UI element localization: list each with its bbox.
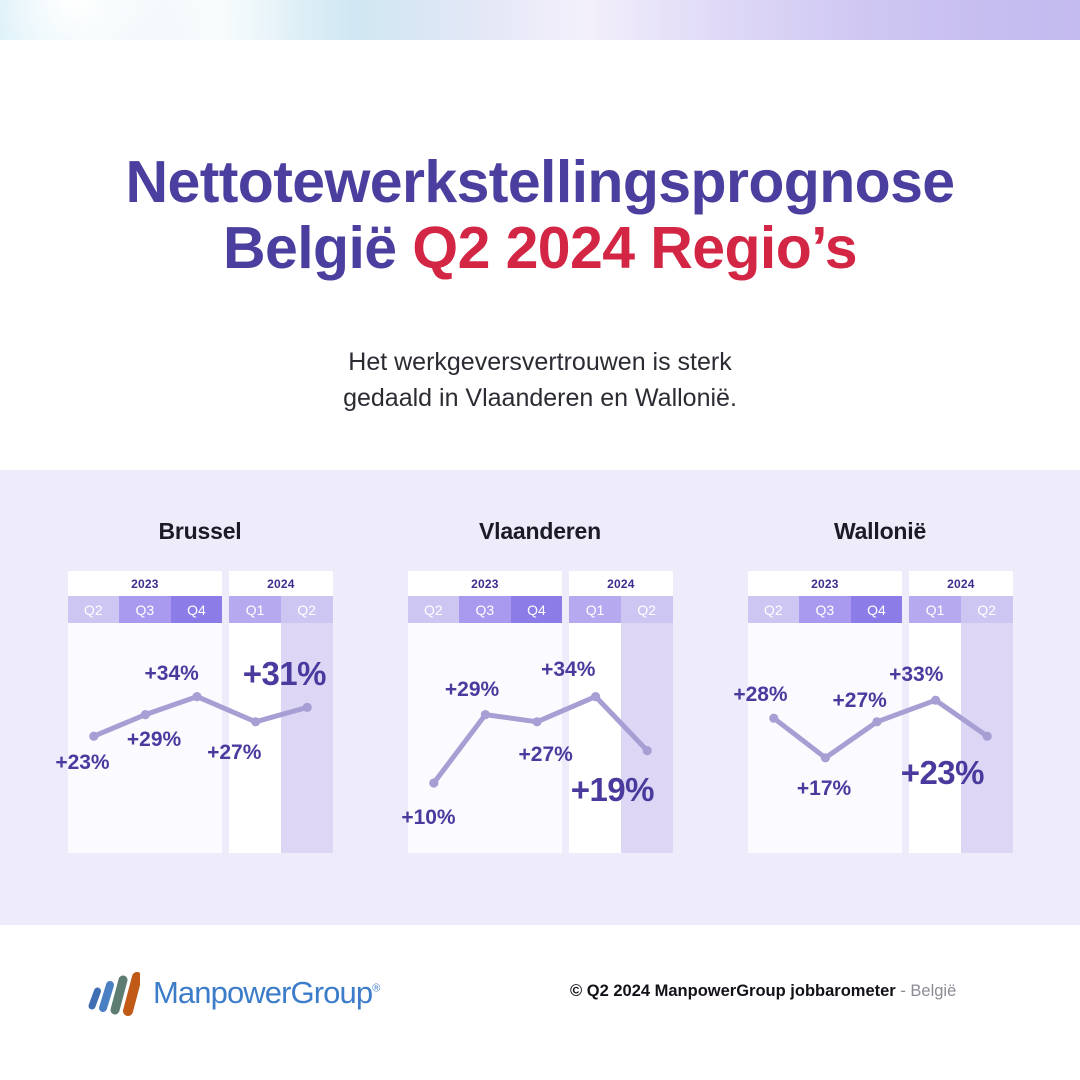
value-label-Q2: +10% — [401, 807, 455, 828]
data-point-Q1 — [591, 692, 600, 701]
chart-overlay: +23%+29%+34%+27%+31% — [68, 623, 333, 853]
data-point-Q2 — [89, 732, 98, 741]
copyright-bold: © Q2 2024 ManpowerGroup jobbarometer — [570, 982, 896, 1000]
year-cell-2023: 2023 — [748, 571, 903, 596]
manpowergroup-logo: ManpowerGroup® — [82, 964, 379, 1022]
data-point-Q4 — [192, 692, 201, 701]
value-label-Q1: +34% — [541, 659, 595, 680]
chart-card-brussel: Brussel20232024Q2Q3Q4Q1Q2+23%+29%+34%+27… — [58, 518, 343, 853]
quarter-cell-2023-Q3: Q3 — [459, 596, 511, 623]
chart-title: Brussel — [58, 518, 343, 545]
data-point-Q1 — [931, 696, 940, 705]
title-line-2: België Q2 2024 Regio’s — [0, 218, 1080, 280]
value-label-Q3: +29% — [127, 729, 181, 750]
value-label-Q4: +34% — [145, 663, 199, 684]
chart-body: 20232024Q2Q3Q4Q1Q2+10%+29%+27%+34%+19% — [408, 571, 673, 853]
chart-body: 20232024Q2Q3Q4Q1Q2+23%+29%+34%+27%+31% — [68, 571, 333, 853]
charts-section: Brussel20232024Q2Q3Q4Q1Q2+23%+29%+34%+27… — [0, 470, 1080, 925]
quarter-cell-2023-Q3: Q3 — [799, 596, 851, 623]
copyright-region: - België — [896, 982, 957, 1000]
quarter-cell-2024-Q2: Q2 — [961, 596, 1013, 623]
registered-trademark-icon: ® — [372, 983, 379, 995]
trend-line-chart — [748, 623, 1013, 853]
data-point-Q3 — [140, 710, 149, 719]
chart-title: Vlaanderen — [398, 518, 683, 545]
title-regions: Regio’s — [634, 215, 857, 281]
title-line-1: Nettotewerkstellingsprognose — [0, 152, 1080, 214]
page-title: Nettotewerkstellingsprognose België Q2 2… — [0, 152, 1080, 280]
value-label-Q4: +27% — [833, 690, 887, 711]
quarter-cell-2023-Q4: Q4 — [511, 596, 563, 623]
data-point-Q4 — [872, 717, 881, 726]
year-header-row: 20232024 — [748, 571, 1013, 596]
year-header-row: 20232024 — [68, 571, 333, 596]
quarter-cell-2023-Q4: Q4 — [171, 596, 223, 623]
quarter-cell-2024-Q2: Q2 — [281, 596, 333, 623]
chart-overlay: +10%+29%+27%+34%+19% — [408, 623, 673, 853]
quarter-cell-2024-Q2: Q2 — [621, 596, 673, 623]
value-label-Q2: +28% — [733, 684, 787, 705]
chart-title: Wallonië — [738, 518, 1023, 545]
top-gradient-banner — [0, 0, 1080, 40]
data-point-Q4 — [532, 717, 541, 726]
quarter-group-2023: Q2Q3Q4 — [748, 596, 903, 623]
quarter-group-2023: Q2Q3Q4 — [408, 596, 563, 623]
year-header-row: 20232024 — [408, 571, 673, 596]
chart-card-vlaanderen: Vlaanderen20232024Q2Q3Q4Q1Q2+10%+29%+27%… — [398, 518, 683, 853]
subtitle-line-2: gedaald in Vlaanderen en Wallonië. — [0, 380, 1080, 416]
copyright: © Q2 2024 ManpowerGroup jobbarometer - B… — [570, 982, 956, 1001]
quarter-cell-2024-Q1: Q1 — [569, 596, 621, 623]
quarter-cell-2023-Q2: Q2 — [408, 596, 460, 623]
title-country: België — [223, 215, 412, 281]
data-point-Q1 — [251, 717, 260, 726]
data-point-Q3 — [820, 753, 829, 762]
data-point-Q2 — [429, 778, 438, 787]
quarter-cell-2023-Q4: Q4 — [851, 596, 903, 623]
quarter-cell-2023-Q2: Q2 — [68, 596, 120, 623]
trend-line — [93, 697, 306, 737]
chart-body: 20232024Q2Q3Q4Q1Q2+28%+17%+27%+33%+23% — [748, 571, 1013, 853]
infographic-page: Nettotewerkstellingsprognose België Q2 2… — [0, 0, 1080, 1080]
year-cell-2024: 2024 — [569, 571, 672, 596]
data-point-Q3 — [480, 710, 489, 719]
year-cell-2024: 2024 — [229, 571, 332, 596]
year-cell-2023: 2023 — [68, 571, 223, 596]
forecast-value-label-Q2: +31% — [243, 657, 326, 690]
value-label-Q4: +27% — [519, 744, 573, 765]
subtitle: Het werkgeversvertrouwen is sterk gedaal… — [0, 344, 1080, 416]
subtitle-line-1: Het werkgeversvertrouwen is sterk — [0, 344, 1080, 380]
manpowergroup-logo-icon — [82, 964, 140, 1022]
quarter-cell-2023-Q3: Q3 — [119, 596, 171, 623]
value-label-Q1: +27% — [207, 742, 261, 763]
value-label-Q1: +33% — [889, 664, 943, 685]
logo-wordmark: ManpowerGroup — [153, 975, 372, 1010]
quarter-group-2024: Q1Q2 — [569, 596, 672, 623]
forecast-value-label-Q2: +19% — [571, 773, 654, 806]
chart-overlay: +28%+17%+27%+33%+23% — [748, 623, 1013, 853]
quarter-cell-2023-Q2: Q2 — [748, 596, 800, 623]
manpowergroup-logo-text: ManpowerGroup® — [153, 975, 379, 1011]
quarter-header-row: Q2Q3Q4Q1Q2 — [68, 596, 333, 623]
data-point-Q2 — [982, 732, 991, 741]
quarter-group-2024: Q1Q2 — [909, 596, 1012, 623]
year-cell-2023: 2023 — [408, 571, 563, 596]
year-cell-2024: 2024 — [909, 571, 1012, 596]
value-label-Q3: +29% — [445, 679, 499, 700]
title-quarter-year: Q2 2024 — [412, 215, 634, 281]
quarter-header-row: Q2Q3Q4Q1Q2 — [748, 596, 1013, 623]
data-point-Q2 — [302, 703, 311, 712]
footer: ManpowerGroup® © Q2 2024 ManpowerGroup j… — [0, 925, 1080, 1080]
value-label-Q2: +23% — [55, 752, 109, 773]
quarter-header-row: Q2Q3Q4Q1Q2 — [408, 596, 673, 623]
value-label-Q3: +17% — [797, 778, 851, 799]
forecast-value-label-Q2: +23% — [901, 756, 984, 789]
data-point-Q2 — [769, 714, 778, 723]
quarter-cell-2024-Q1: Q1 — [909, 596, 961, 623]
quarter-cell-2024-Q1: Q1 — [229, 596, 281, 623]
charts-row: Brussel20232024Q2Q3Q4Q1Q2+23%+29%+34%+27… — [0, 470, 1080, 925]
chart-card-wallonië: Wallonië20232024Q2Q3Q4Q1Q2+28%+17%+27%+3… — [738, 518, 1023, 853]
quarter-group-2024: Q1Q2 — [229, 596, 332, 623]
data-point-Q2 — [642, 746, 651, 755]
quarter-group-2023: Q2Q3Q4 — [68, 596, 223, 623]
